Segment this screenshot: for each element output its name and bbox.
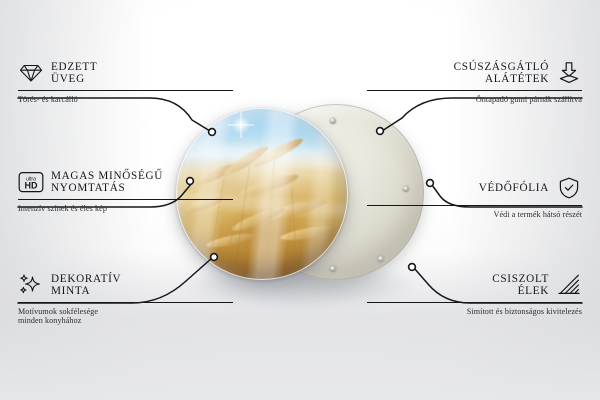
- feature-underline: [367, 302, 582, 303]
- feature-underline: [18, 90, 233, 91]
- feature-title-line: EDZETT: [51, 61, 97, 73]
- feature-title-line: CSÚSZÁSGÁTLÓ: [454, 61, 549, 73]
- feature-csuszasgatlo-alatetek[interactable]: CSÚSZÁSGÁTLÓ ALÁTÉTEK Öntapadó gumi párn…: [367, 60, 582, 104]
- feature-title-line: MAGAS MINŐSÉGŰ: [51, 170, 163, 182]
- sparkles-icon: [18, 272, 44, 298]
- feature-underline: [18, 199, 233, 200]
- feature-vedofolia[interactable]: VÉDŐFÓLIA Védi a termék hátsó részét: [367, 175, 582, 219]
- feature-title-line: DEKORATÍV: [51, 273, 121, 285]
- feature-csiszolt-elek[interactable]: CSISZOLT ÉLEK Simított és biztonságos ki…: [367, 272, 582, 316]
- feature-subtitle: Motívumok sokfélesége minden konyhához: [18, 307, 233, 326]
- feature-title-line: ÉLEK: [518, 285, 549, 297]
- feature-subtitle: Törés- és karcálló: [18, 95, 233, 105]
- ultra-hd-badge-icon: ultra HD: [18, 169, 44, 195]
- feature-title-line: ÜVEG: [51, 73, 85, 85]
- feature-subtitle: Védi a termék hátsó részét: [367, 210, 582, 220]
- rubber-pad: [378, 256, 384, 262]
- feature-subtitle: Öntapadó gumi párnák szállítva: [367, 95, 582, 105]
- diamond-icon: [18, 60, 44, 86]
- feature-title-line: NYOMTATÁS: [51, 182, 125, 194]
- feature-subtitle: Simított és biztonságos kivitelezés: [367, 307, 582, 317]
- infographic-canvas: EDZETT ÜVEG Törés- és karcálló ultra HD …: [0, 0, 600, 400]
- feature-dekorativ-minta[interactable]: DEKORATÍV MINTA Motívumok sokfélesége mi…: [18, 272, 233, 326]
- feature-subtitle-line: minden konyhához: [18, 316, 81, 325]
- feature-underline: [18, 302, 233, 303]
- feature-title-line: CSISZOLT: [492, 273, 549, 285]
- feature-subtitle-line: Motívumok sokfélesége: [18, 307, 98, 316]
- feature-underline: [367, 205, 582, 206]
- feature-underline: [367, 90, 582, 91]
- shield-check-icon: [556, 175, 582, 201]
- ultra-hd-main-text: HD: [25, 181, 38, 191]
- feature-magas-minosegu-nyomtatas[interactable]: ultra HD MAGAS MINŐSÉGŰ NYOMTATÁS Intenz…: [18, 169, 233, 213]
- feature-title-line: ALÁTÉTEK: [485, 73, 549, 85]
- polished-edge-hatch-icon: [556, 272, 582, 298]
- feature-title-line: VÉDŐFÓLIA: [479, 182, 549, 194]
- feature-title-line: MINTA: [51, 285, 90, 297]
- anti-slip-pad-icon: [556, 60, 582, 86]
- feature-edzett-uveg[interactable]: EDZETT ÜVEG Törés- és karcálló: [18, 60, 233, 104]
- feature-subtitle: Intenzív színek és éles kép: [18, 204, 233, 214]
